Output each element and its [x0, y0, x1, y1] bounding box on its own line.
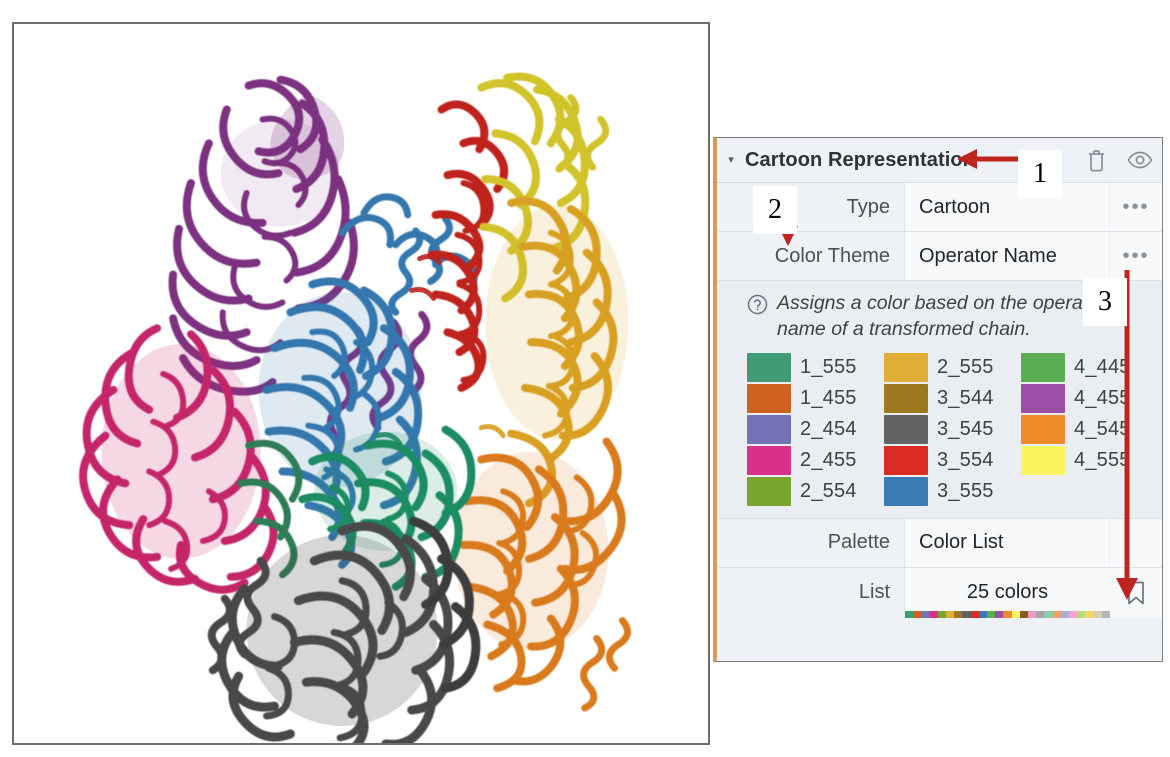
- color-strip-swatch: [1036, 611, 1044, 618]
- legend-swatch: [747, 415, 791, 444]
- color-strip-swatch: [1020, 611, 1028, 618]
- color-strip-swatch: [1102, 611, 1110, 618]
- list-value-text: 25 colors: [967, 581, 1048, 604]
- molecule-viewport[interactable]: [12, 22, 710, 745]
- color-strip-swatch: [979, 611, 987, 618]
- color-strip-swatch: [962, 611, 970, 618]
- palette-value[interactable]: Color List: [904, 519, 1109, 567]
- list-label: List: [717, 568, 904, 618]
- operator-color-legend: 1_5552_5554_4451_4553_5444_4552_4543_545…: [717, 347, 1162, 512]
- color-strip-swatch: [971, 611, 979, 618]
- color-strip-swatch: [1003, 611, 1011, 618]
- legend-label: 2_554: [800, 480, 857, 503]
- legend-label: 1_555: [800, 356, 857, 379]
- color-list-strip[interactable]: [905, 611, 1110, 618]
- color-strip-swatch: [913, 611, 921, 618]
- color-strip-swatch: [1061, 611, 1069, 618]
- palette-row[interactable]: Palette Color List: [717, 519, 1162, 568]
- legend-item: 1_555: [747, 353, 878, 382]
- color-strip-swatch: [946, 611, 954, 618]
- legend-label: 2_454: [800, 418, 857, 441]
- annotation-number-2: 2: [753, 186, 797, 234]
- color-theme-value[interactable]: Operator Name: [904, 232, 1109, 280]
- legend-swatch: [884, 353, 928, 382]
- legend-swatch: [747, 477, 791, 506]
- list-value[interactable]: 25 colors: [904, 568, 1110, 618]
- legend-label: 3_555: [937, 480, 994, 503]
- legend-item: 3_554: [884, 446, 1015, 475]
- color-strip-swatch: [1028, 611, 1036, 618]
- legend-label: 2_455: [800, 449, 857, 472]
- legend-swatch: [747, 353, 791, 382]
- legend-swatch: [747, 384, 791, 413]
- legend-swatch: [1021, 446, 1065, 475]
- legend-label: 1_455: [800, 387, 857, 410]
- legend-item: 3_544: [884, 384, 1015, 413]
- color-strip-swatch: [930, 611, 938, 618]
- color-strip-swatch: [987, 611, 995, 618]
- color-strip-swatch: [954, 611, 962, 618]
- color-theme-label: Color Theme: [717, 232, 904, 280]
- question-mark-icon: [747, 294, 768, 323]
- legend-item: 2_454: [747, 415, 878, 444]
- legend-label: 3_544: [937, 387, 994, 410]
- annotation-number-1: 1: [1018, 150, 1062, 198]
- trash-icon[interactable]: [1074, 149, 1118, 172]
- legend-label: 3_554: [937, 449, 994, 472]
- type-value[interactable]: Cartoon: [904, 183, 1109, 231]
- color-strip-swatch: [921, 611, 929, 618]
- legend-item: 3_545: [884, 415, 1015, 444]
- palette-label: Palette: [717, 519, 904, 567]
- legend-swatch: [884, 446, 928, 475]
- legend-swatch: [884, 477, 928, 506]
- color-strip-swatch: [1085, 611, 1093, 618]
- annotation-arrow-1: [955, 146, 1021, 172]
- color-strip-swatch: [1069, 611, 1077, 618]
- legend-swatch: [1021, 353, 1065, 382]
- color-strip-swatch: [1012, 611, 1020, 618]
- legend-item: 2_555: [884, 353, 1015, 382]
- legend-swatch: [747, 446, 791, 475]
- color-strip-swatch: [1053, 611, 1061, 618]
- legend-swatch: [884, 384, 928, 413]
- chevron-down-icon[interactable]: ▾: [717, 138, 745, 182]
- legend-swatch: [1021, 415, 1065, 444]
- color-strip-swatch: [905, 611, 913, 618]
- eye-icon[interactable]: [1118, 151, 1162, 169]
- legend-item: 3_555: [884, 477, 1015, 506]
- legend-item: 2_455: [747, 446, 878, 475]
- legend-item: 1_455: [747, 384, 878, 413]
- legend-item: 2_554: [747, 477, 878, 506]
- color-strip-swatch: [1077, 611, 1085, 618]
- molecule-structure-image: [14, 24, 708, 743]
- type-label: Type: [717, 183, 904, 231]
- legend-label: 3_545: [937, 418, 994, 441]
- annotation-number-3: 3: [1083, 278, 1127, 326]
- color-strip-swatch: [995, 611, 1003, 618]
- legend-label: 2_555: [937, 356, 994, 379]
- color-strip-swatch: [938, 611, 946, 618]
- panel-header[interactable]: ▾ Cartoon Representation: [717, 138, 1162, 183]
- color-strip-swatch: [1044, 611, 1052, 618]
- legend-swatch: [884, 415, 928, 444]
- list-row[interactable]: List 25 colors: [717, 568, 1162, 618]
- type-more-options-button[interactable]: •••: [1109, 183, 1162, 231]
- page-title: Cartoon Representation: [745, 149, 975, 172]
- color-strip-swatch: [1094, 611, 1102, 618]
- legend-swatch: [1021, 384, 1065, 413]
